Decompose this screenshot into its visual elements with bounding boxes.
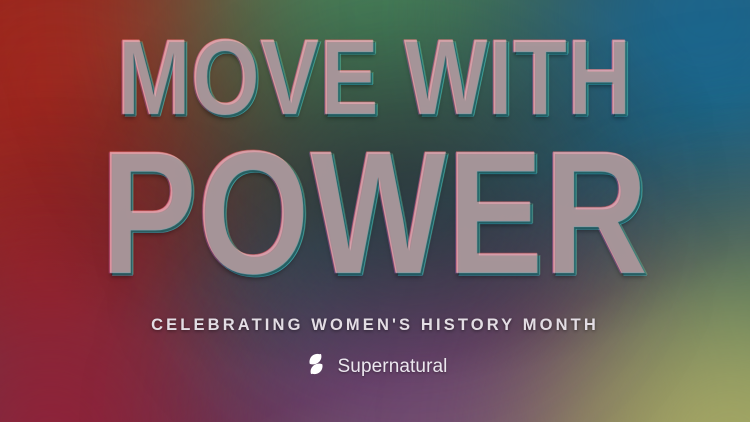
headline-line-2: POWER POWER [101, 126, 649, 302]
promo-content: MOVE WITH MOVE WITH POWER POWER CELEBRAT… [0, 0, 750, 422]
headline-line-2-text: POWER [101, 126, 649, 302]
tagline: CELEBRATING WOMEN'S HISTORY MONTH [151, 316, 599, 335]
brand-lockup: Supernatural [303, 351, 448, 382]
supernatural-logo-icon [303, 351, 329, 382]
promo-graphic: MOVE WITH MOVE WITH POWER POWER CELEBRAT… [0, 0, 750, 422]
brand-name: Supernatural [338, 356, 448, 378]
